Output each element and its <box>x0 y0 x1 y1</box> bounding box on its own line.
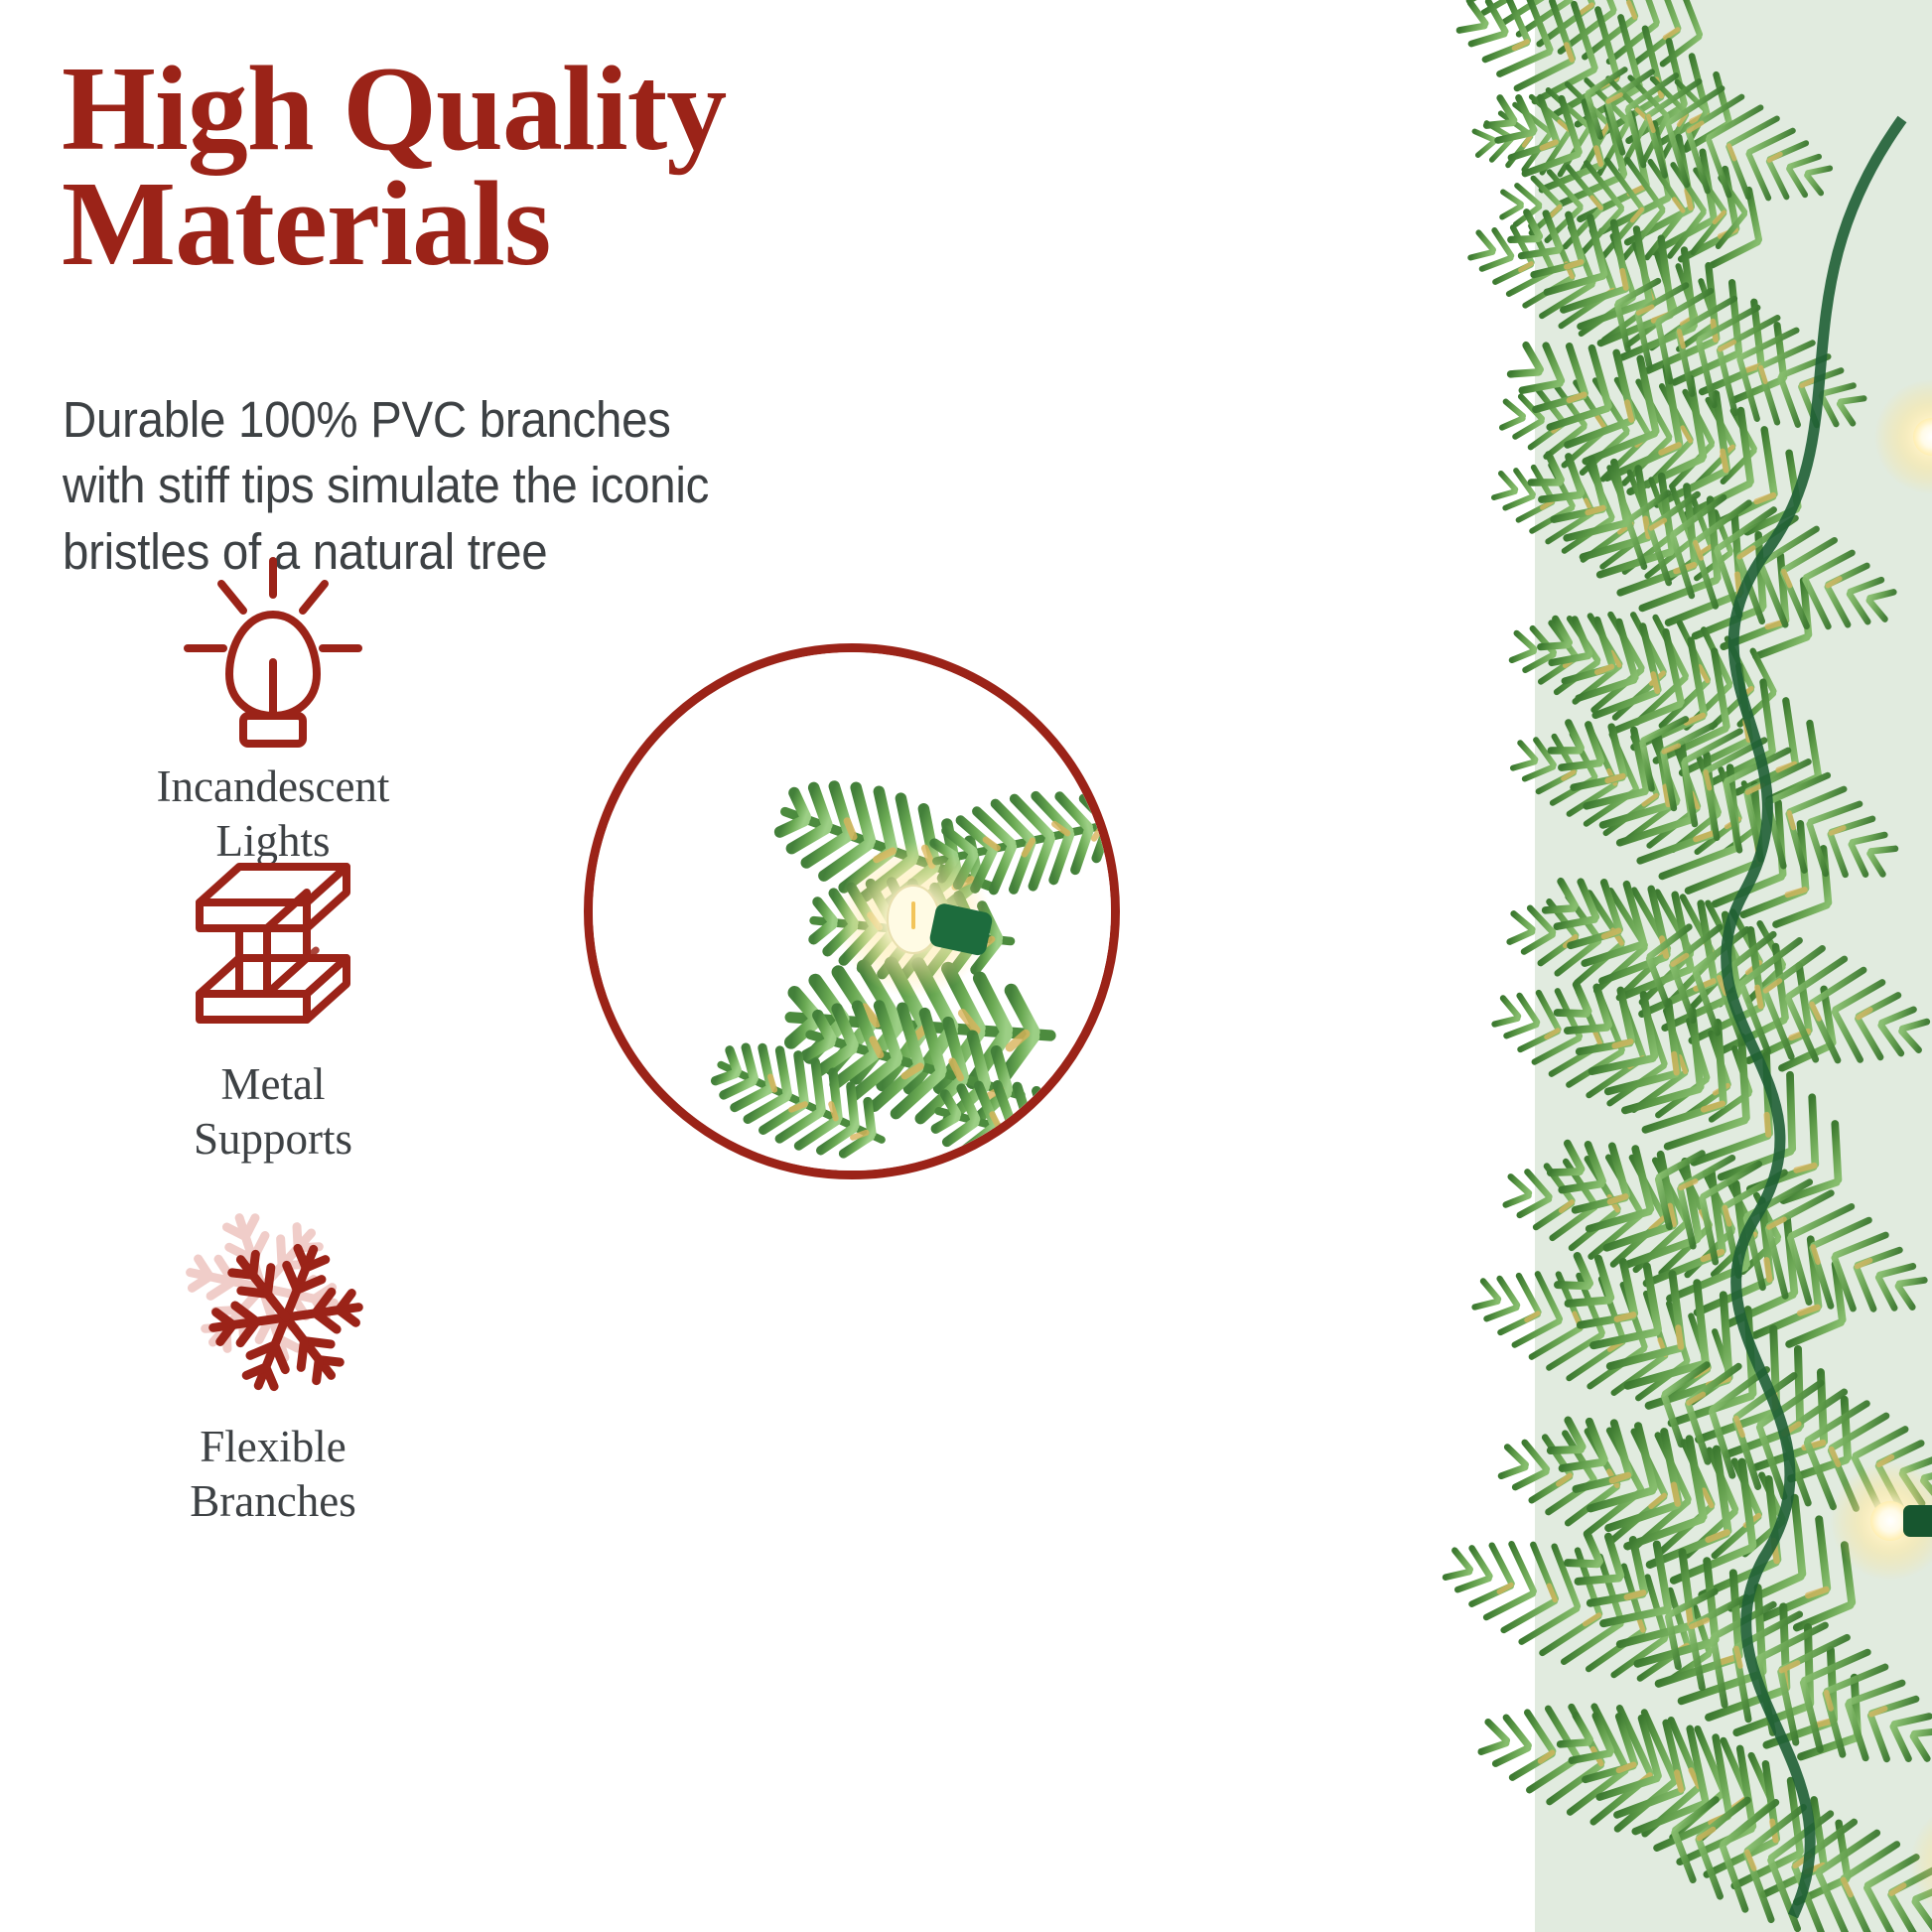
tree-foliage <box>1425 0 1932 1932</box>
incandescent-bulb-icon <box>60 551 486 750</box>
feature-item-flexible-branches: Flexible Branches <box>60 1196 486 1554</box>
feature-item-metal-supports: Metal Supports <box>60 849 486 1196</box>
i-beam-icon-svg <box>174 849 372 1047</box>
feature-label: Flexible Branches <box>60 1420 486 1529</box>
marketing-image: High Quality Materials Durable 100% PVC … <box>0 0 1932 1932</box>
magnified-branch-svg <box>584 643 1120 1179</box>
incandescent-bulb-icon-svg <box>174 551 372 750</box>
feature-label: Metal Supports <box>60 1057 486 1167</box>
snowflake-icon <box>60 1196 486 1410</box>
page-title: High Quality Materials <box>62 52 955 282</box>
feature-item-incandescent-lights: Incandescent Lights <box>60 551 486 849</box>
i-beam-icon <box>60 849 486 1047</box>
feature-list: Incandescent Lights <box>60 551 486 1554</box>
snowflake-icon-svg <box>167 1196 380 1410</box>
magnified-branch-detail <box>584 643 1120 1179</box>
